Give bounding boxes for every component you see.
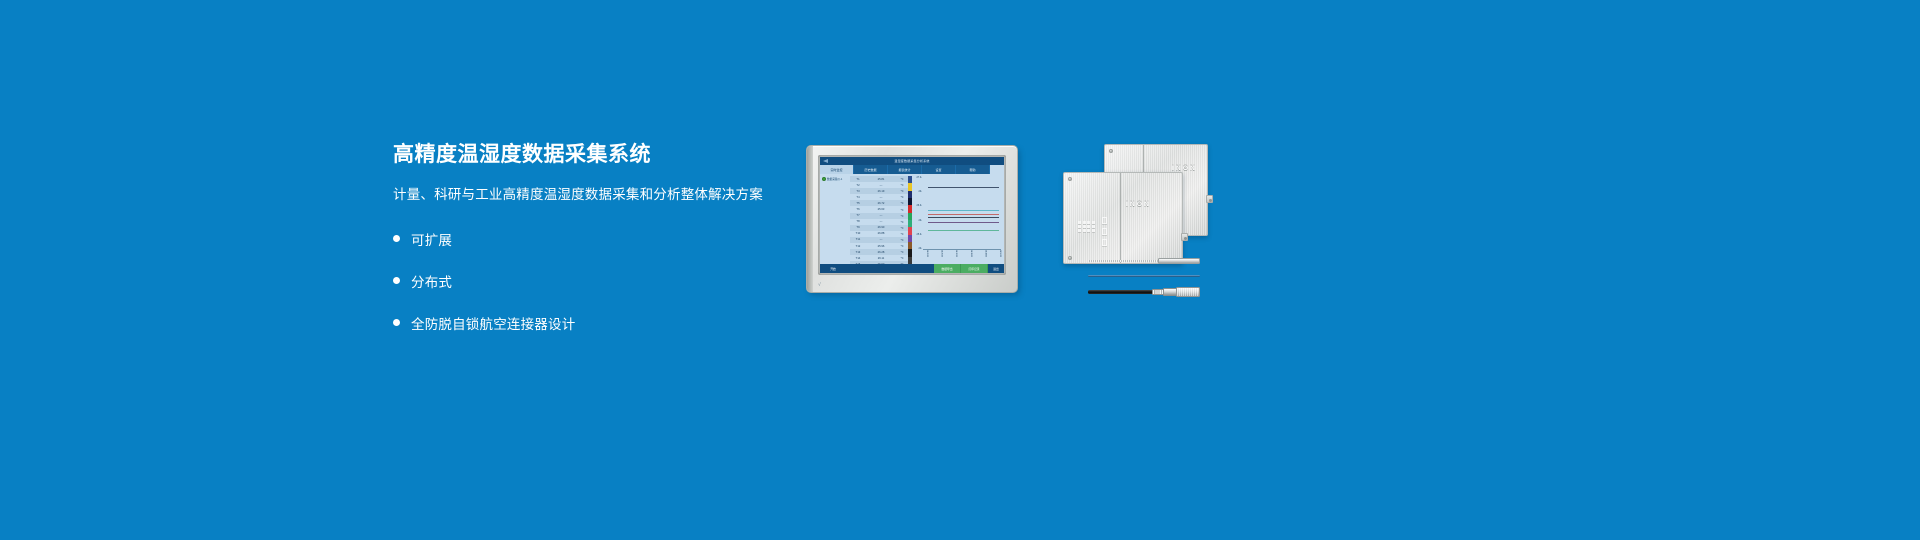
y-axis-tick: 26.0-: [913, 204, 922, 207]
channel-value: 26.28: [866, 251, 896, 254]
channel-unit: ℃: [896, 177, 908, 181]
trend-chart: 27.0-20-26.0-20-25.0-20- 14:20:0014:26:0…: [912, 174, 1004, 264]
channel-id: T2: [850, 184, 866, 187]
tab-reports[interactable]: 报表统计: [888, 165, 922, 174]
channel-id: T3: [850, 190, 866, 193]
channel-value: ---: [866, 196, 896, 199]
chart-plot-area: [923, 177, 1001, 250]
channel-id: T10: [850, 232, 866, 235]
trend-line: [928, 217, 1000, 218]
port-label-etching: [1102, 217, 1107, 246]
tab-help[interactable]: 帮助: [956, 165, 990, 174]
x-axis-tick: 14:20:00: [923, 250, 928, 263]
channel-value: 26.19: [866, 190, 896, 193]
device-tree-sidebar: 数据采集仪-1: [820, 174, 850, 264]
panel-pc-chassis: 温湿度数据采集分析系统 实时监控 历史数据 报表统计 设置 帮助: [806, 145, 1018, 293]
channel-value: 25.81: [866, 178, 896, 181]
action-bar-spacer: [846, 264, 934, 273]
panel-pc-screen: 温湿度数据采集分析系统 实时监控 历史数据 报表统计 设置 帮助: [820, 157, 1004, 273]
list-item: 全防脱自锁航空连接器设计: [393, 310, 793, 336]
page-title: 高精度温湿度数据采集系统: [393, 142, 793, 168]
sidebar-item-device[interactable]: 数据采集仪-1: [822, 177, 848, 181]
channel-unit: ℃: [896, 208, 908, 212]
app-action-bar: 开始 数据导出 打印记录 退出: [820, 264, 1004, 273]
tab-bar-filler: [990, 165, 1004, 174]
x-axis-tick: 14:38:00: [967, 250, 972, 263]
channel-id: T9: [850, 226, 866, 229]
tab-realtime[interactable]: 实时监控: [820, 165, 854, 174]
bullet-icon: [393, 319, 400, 326]
chart-y-axis: 27.0-20-26.0-20-25.0-20-: [913, 176, 922, 250]
channel-unit: ℃: [896, 201, 908, 205]
channel-unit: ℃: [896, 189, 908, 193]
tab-settings[interactable]: 设置: [922, 165, 956, 174]
feature-label: 可扩展: [411, 229, 452, 249]
app-main-area: 数据采集仪-1 T125.81℃T2---℃T326.19℃T4---℃T526…: [820, 174, 1004, 264]
bullet-icon: [393, 277, 400, 284]
channel-value: 25.63: [866, 208, 896, 211]
channel-unit: ℃: [896, 238, 908, 242]
list-item: 分布式: [393, 268, 793, 294]
app-titlebar: 温湿度数据采集分析系统: [820, 157, 1004, 165]
trend-line: [928, 222, 1000, 223]
channel-value: 26.88: [866, 232, 896, 235]
device-label: 数据采集仪-1: [827, 177, 842, 181]
y-axis-tick: 20-: [913, 247, 922, 250]
screw-icon: [1109, 149, 1113, 153]
product-image-sensor-probes: [1088, 258, 1200, 300]
brand-logo-text: INON: [1126, 201, 1151, 208]
product-image-panel-pc: 温湿度数据采集分析系统 实时监控 历史数据 报表统计 设置 帮助: [806, 145, 1020, 295]
channel-value: ---: [866, 214, 896, 217]
x-axis-tick: 14:44:00: [981, 250, 986, 263]
channel-value: 26.11: [866, 257, 896, 260]
list-item: 可扩展: [393, 226, 793, 252]
channel-unit: ℃: [896, 256, 908, 260]
export-data-button[interactable]: 数据导出: [934, 264, 961, 273]
channel-value: 26.72: [866, 202, 896, 205]
aviation-connector-cable: [1088, 287, 1200, 297]
channel-id: T6: [850, 208, 866, 211]
screw-icon: [1068, 256, 1072, 260]
terminal-block-etching: [1078, 221, 1095, 232]
channel-unit: ℃: [896, 183, 908, 187]
brand-logo-text: INON: [1172, 165, 1197, 172]
probe-tip: [1158, 258, 1200, 264]
channel-unit: ℃: [896, 250, 908, 254]
app-tab-bar: 实时监控 历史数据 报表统计 设置 帮助: [820, 165, 1004, 174]
cable-jacket: [1088, 290, 1156, 294]
channel-unit: ℃: [896, 220, 908, 224]
channel-value: ---: [866, 238, 896, 241]
feature-label: 全防脱自锁航空连接器设计: [411, 313, 575, 333]
trend-line: [928, 210, 1000, 211]
hero-copy-block: 高精度温湿度数据采集系统 计量、科研与工业高精度温湿度数据采集和分析整体解决方案…: [393, 142, 793, 352]
print-record-button[interactable]: 打印记录: [961, 264, 988, 273]
connector-nut: [1163, 288, 1177, 296]
channel-id: T7: [850, 214, 866, 217]
panel-pc-bezel: 温湿度数据采集分析系统 实时监控 历史数据 报表统计 设置 帮助: [818, 155, 1006, 275]
feature-list: 可扩展 分布式 全防脱自锁航空连接器设计: [393, 226, 793, 336]
sensor-cable: [1088, 274, 1200, 278]
panel-seam: [1120, 173, 1121, 263]
data-logger-front-unit: INON: [1063, 172, 1183, 264]
connector-port: [1181, 233, 1188, 241]
x-axis-tick: 14:32:00: [952, 250, 957, 263]
tab-history[interactable]: 历史数据: [854, 165, 888, 174]
cable-jacket: [1088, 275, 1200, 277]
channel-id: T1: [850, 178, 866, 181]
port-hole-icon: [1184, 237, 1187, 240]
channel-id: T5: [850, 202, 866, 205]
channel-id: T13: [850, 251, 866, 254]
channel-value: ---: [866, 184, 896, 187]
y-axis-tick: 25.0-: [913, 233, 922, 236]
page-subtitle: 计量、科研与工业高精度温湿度数据采集和分析整体解决方案: [393, 186, 793, 204]
app-title: 温湿度数据采集分析系统: [820, 157, 1004, 165]
x-axis-tick: 14:26:00: [938, 250, 943, 263]
probe-stem: [1088, 260, 1160, 263]
channel-id: T12: [850, 245, 866, 248]
start-button[interactable]: 开始: [820, 264, 846, 273]
channel-unit: ℃: [896, 244, 908, 248]
channel-unit: ℃: [896, 195, 908, 199]
exit-button[interactable]: 退出: [988, 264, 1004, 273]
channel-unit: ℃: [896, 232, 908, 236]
y-axis-tick: 20-: [913, 219, 922, 222]
port-hole-icon: [1209, 199, 1212, 202]
connector-port: [1206, 195, 1213, 203]
channel-table: T125.81℃T2---℃T326.19℃T4---℃T526.72℃T625…: [850, 174, 908, 264]
panel-pc-indicator: √: [818, 282, 821, 288]
channel-unit: ℃: [896, 226, 908, 230]
bullet-icon: [393, 235, 400, 242]
channel-id: T11: [850, 238, 866, 241]
feature-label: 分布式: [411, 271, 452, 291]
aviation-connector-barrel: [1176, 287, 1200, 297]
temperature-probe: [1088, 258, 1200, 264]
trend-line: [928, 230, 1000, 231]
channel-id: T14: [850, 257, 866, 260]
trend-line: [928, 214, 1000, 215]
channel-unit: ℃: [896, 214, 908, 218]
hero-banner: 高精度温湿度数据采集系统 计量、科研与工业高精度温湿度数据采集和分析整体解决方案…: [0, 0, 1920, 540]
channel-value: 25.96: [866, 245, 896, 248]
channel-id: T8: [850, 220, 866, 223]
x-axis-tick: 14:50:00: [996, 250, 1001, 263]
channel-id: T4: [850, 196, 866, 199]
y-axis-tick: 20-: [913, 190, 922, 193]
channel-value: ---: [866, 220, 896, 223]
chart-x-axis: 14:20:0014:26:0014:32:0014:38:0014:44:00…: [923, 250, 1001, 263]
channel-value: 26.90: [866, 226, 896, 229]
panel-pc-left-edge: [807, 146, 813, 292]
screw-icon: [1068, 177, 1072, 181]
trend-line: [928, 187, 1000, 188]
y-axis-tick: 27.0-: [913, 176, 922, 179]
status-online-icon: [822, 177, 826, 181]
